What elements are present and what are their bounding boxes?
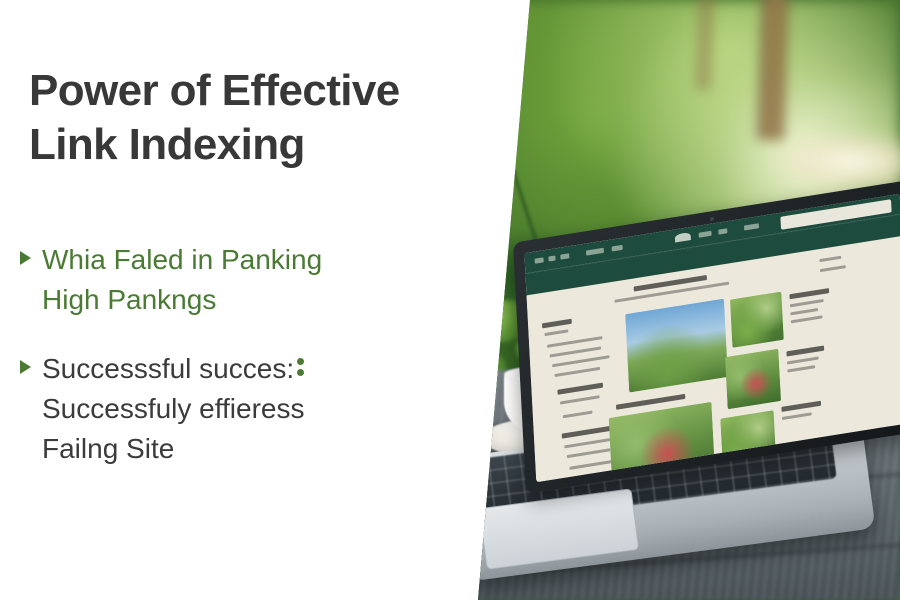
bullet-text-2-head: Successsful succes: <box>42 353 294 384</box>
card-line <box>790 308 818 315</box>
sidebar-line <box>547 336 602 348</box>
site-thumbnail[interactable] <box>625 299 728 393</box>
list-item: Successsful succes: Successfuly effieres… <box>16 349 466 470</box>
card-heading <box>786 346 824 357</box>
slide-canvas: Power of Effective Link Indexing Whia Fa… <box>0 0 900 600</box>
sidebar-line <box>544 329 568 336</box>
site-logo-icon <box>675 232 691 243</box>
sidebar-heading <box>557 383 603 395</box>
text-panel: Power of Effective Link Indexing Whia Fa… <box>0 0 480 600</box>
topbar-glyph <box>560 253 569 259</box>
card-line <box>790 299 824 307</box>
sidebar-line <box>564 438 612 449</box>
topbar-glyph <box>744 223 759 230</box>
sidebar-line <box>550 346 602 357</box>
site-thumbnail[interactable] <box>725 349 781 410</box>
bullet-text-2: Successsful succes: Successfuly effieres… <box>42 349 306 470</box>
card-heading <box>789 288 829 299</box>
sidebar-heading <box>542 319 572 329</box>
bullet-text-1: Whia Faled in Panking High Pankngs <box>42 240 322 321</box>
photo-image <box>460 0 900 600</box>
page-title: Power of Effective Link Indexing <box>29 64 469 171</box>
topbar-glyph <box>612 245 623 252</box>
site-thumbnail[interactable] <box>730 292 784 348</box>
bullet-list: Whia Faled in Panking High Pankngs Succe… <box>16 240 466 498</box>
card-line <box>782 412 812 420</box>
triangle-bullet-icon <box>20 360 31 374</box>
topbar-glyph <box>586 248 604 256</box>
sidebar-line <box>560 395 600 404</box>
meta-line <box>820 265 846 272</box>
card-line <box>791 315 823 323</box>
vertical-dots-icon <box>297 356 306 382</box>
sidebar-line <box>555 367 601 377</box>
sidebar-line <box>567 448 611 458</box>
sidebar-heading <box>562 425 614 438</box>
bullet-text-2-rest: Successfuly effieress Failng Site <box>42 393 305 464</box>
meta-line <box>819 256 841 262</box>
card-line <box>787 365 815 372</box>
sidebar-line <box>563 411 593 419</box>
list-item: Whia Faled in Panking High Pankngs <box>16 240 466 321</box>
card-heading <box>781 401 821 412</box>
topbar-glyph <box>699 231 712 238</box>
sidebar-line <box>552 355 609 367</box>
card-line <box>787 356 819 364</box>
triangle-bullet-icon <box>20 251 31 265</box>
topbar-glyph <box>548 255 555 261</box>
topbar-glyph <box>718 228 727 234</box>
topbar-glyph <box>535 257 544 263</box>
